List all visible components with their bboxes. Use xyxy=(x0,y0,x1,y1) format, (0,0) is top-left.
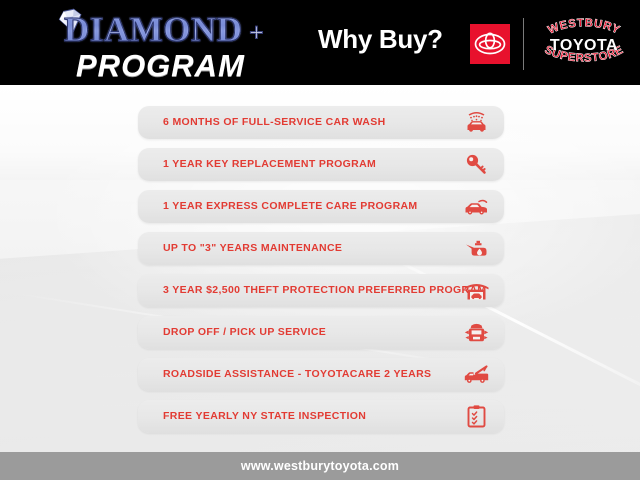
benefit-label: ROADSIDE ASSISTANCE - TOYOTACARE 2 YEARS xyxy=(163,358,431,391)
benefit-item[interactable]: DROP OFF / PICK UP SERVICE xyxy=(138,316,504,349)
diamond-word: DIAMOND xyxy=(64,10,242,50)
oil-can-icon xyxy=(463,235,490,262)
car-open-hood-icon xyxy=(463,193,490,220)
benefit-item[interactable]: FREE YEARLY NY STATE INSPECTION xyxy=(138,400,504,433)
benefit-item[interactable]: UP TO "3" YEARS MAINTENANCE xyxy=(138,232,504,265)
benefit-label: DROP OFF / PICK UP SERVICE xyxy=(163,316,326,349)
benefit-label: FREE YEARLY NY STATE INSPECTION xyxy=(163,400,366,433)
westbury-toyota-superstore-logo: WESTBURY SUPERSTORE TOYOTA xyxy=(534,16,634,72)
diamond-plus-sign: + xyxy=(249,18,264,48)
benefit-label: 1 YEAR KEY REPLACEMENT PROGRAM xyxy=(163,148,376,181)
car-wash-icon xyxy=(463,109,490,136)
benefit-item[interactable]: 1 YEAR EXPRESS COMPLETE CARE PROGRAM xyxy=(138,190,504,223)
benefit-label: 6 MONTHS OF FULL-SERVICE CAR WASH xyxy=(163,106,386,139)
shuttle-car-icon xyxy=(463,319,490,346)
headline-why-buy: Why Buy? xyxy=(318,24,443,55)
benefit-label: UP TO "3" YEARS MAINTENANCE xyxy=(163,232,342,265)
benefit-item[interactable]: 6 MONTHS OF FULL-SERVICE CAR WASH xyxy=(138,106,504,139)
benefit-label: 3 YEAR $2,500 THEFT PROTECTION PREFERRED… xyxy=(163,274,487,307)
clipboard-check-icon xyxy=(463,403,490,430)
tow-truck-icon xyxy=(463,361,490,388)
website-url[interactable]: www.westburytoyota.com xyxy=(0,452,640,480)
benefit-item[interactable]: ROADSIDE ASSISTANCE - TOYOTACARE 2 YEARS xyxy=(138,358,504,391)
garage-car-icon xyxy=(463,277,490,304)
header-bar: DIAMOND + PROGRAM Why Buy? WESTBURY xyxy=(0,0,640,85)
benefit-item[interactable]: 1 YEAR KEY REPLACEMENT PROGRAM xyxy=(138,148,504,181)
svg-text:WESTBURY: WESTBURY xyxy=(546,17,622,36)
dealer-name-toyota: TOYOTA xyxy=(534,37,634,55)
program-word: PROGRAM xyxy=(76,48,245,84)
footer-bar: www.westburytoyota.com xyxy=(0,452,640,480)
promo-slide: DIAMOND + PROGRAM Why Buy? WESTBURY xyxy=(0,0,640,480)
benefit-item[interactable]: 3 YEAR $2,500 THEFT PROTECTION PREFERRED… xyxy=(138,274,504,307)
diamond-program-logo: DIAMOND + PROGRAM xyxy=(36,8,286,80)
logo-divider xyxy=(523,18,524,70)
key-icon xyxy=(463,151,490,178)
benefit-label: 1 YEAR EXPRESS COMPLETE CARE PROGRAM xyxy=(163,190,418,223)
toyota-emblem-icon xyxy=(470,24,510,64)
benefits-list: 6 MONTHS OF FULL-SERVICE CAR WASH1 YEAR … xyxy=(138,106,504,436)
